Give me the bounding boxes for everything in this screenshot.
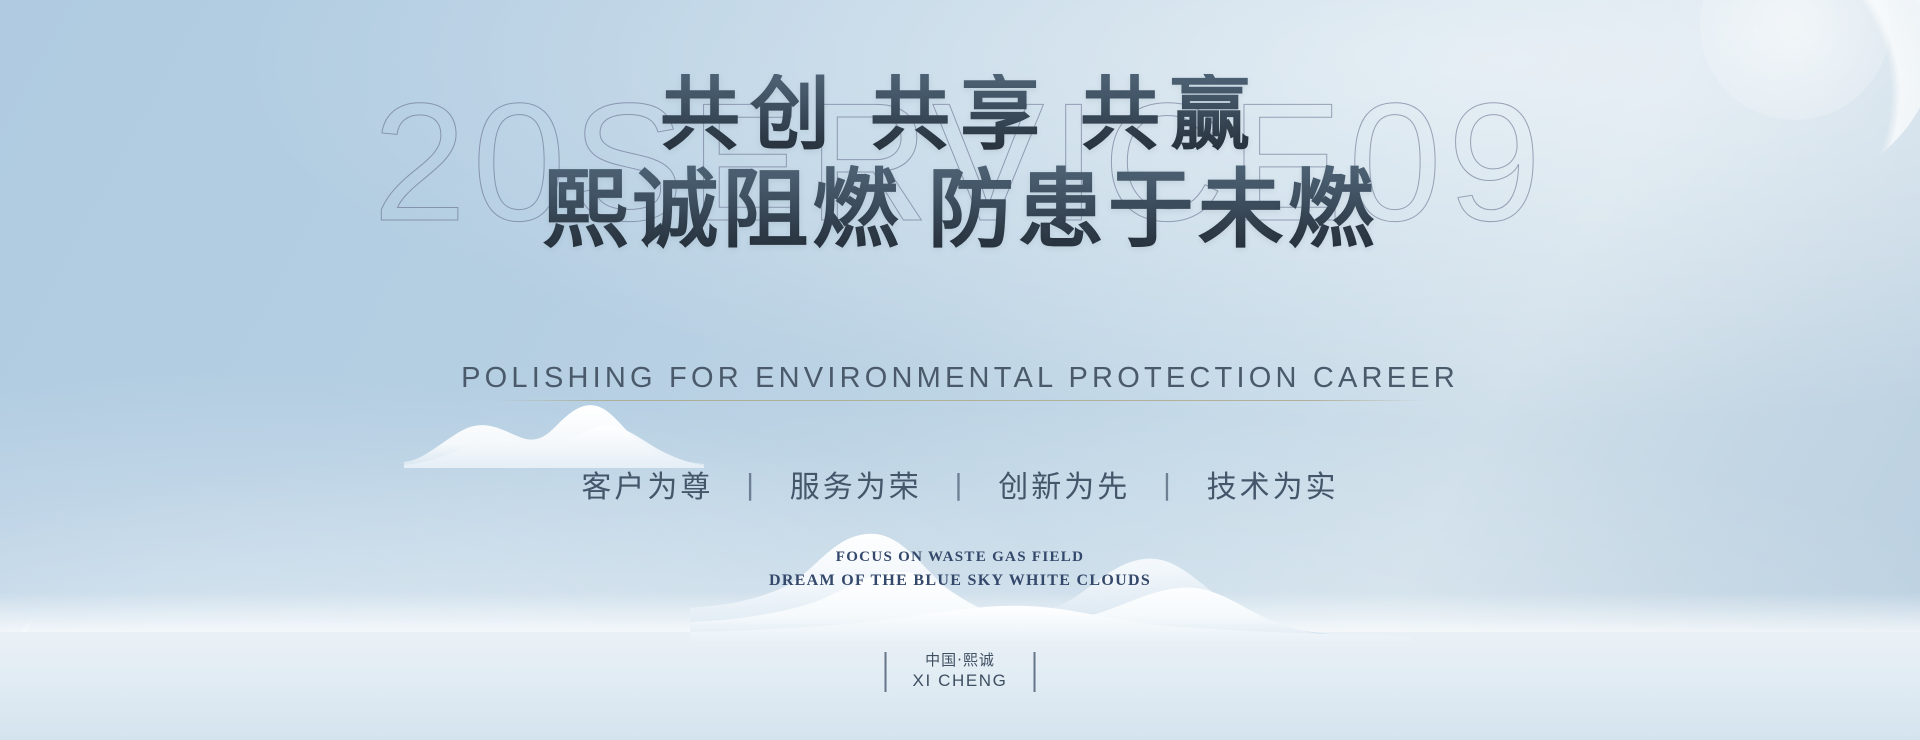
value-item-1: 客户为尊 <box>553 462 741 506</box>
logo-text: 中国·熙诚 XI CHENG <box>913 651 1008 692</box>
logo-text-cn: 中国·熙诚 <box>913 651 1008 670</box>
floor-glow <box>0 592 1920 632</box>
headline-line-2: 熙诚阻燃 防患于未燃 <box>0 165 1920 256</box>
value-separator-1: | <box>741 468 761 501</box>
subtitle-en: POLISHING FOR ENVIRONMENTAL PROTECTION C… <box>0 362 1920 395</box>
headline-block: 共创 共享 共赢 熙诚阻燃 防患于未燃 <box>0 74 1920 256</box>
value-separator-3: | <box>1158 468 1178 501</box>
value-separator-2: | <box>950 468 970 501</box>
logo-divider-right <box>1033 652 1035 692</box>
logo-lockup: 中国·熙诚 XI CHENG <box>885 651 1036 692</box>
value-item-4: 技术为实 <box>1179 462 1367 506</box>
headline-line-1: 共创 共享 共赢 <box>0 74 1920 159</box>
logo-divider-left <box>885 652 887 692</box>
banner-stage: 20SERVICE09 共创 共享 共赢 熙诚阻燃 防患于未燃 POLISHIN… <box>0 0 1920 740</box>
value-item-2: 服务为荣 <box>762 462 950 506</box>
subtitle-underline <box>495 400 1425 401</box>
logo-text-en: XI CHENG <box>913 670 1008 692</box>
value-item-3: 创新为先 <box>970 462 1158 506</box>
focus-line-2: DREAM OF THE BLUE SKY WHITE CLOUDS <box>0 569 1920 593</box>
cloud-shape-left <box>404 398 704 468</box>
focus-block: FOCUS ON WASTE GAS FIELD DREAM OF THE BL… <box>0 546 1920 593</box>
values-row: 客户为尊 | 服务为荣 | 创新为先 | 技术为实 <box>0 462 1920 506</box>
focus-line-1: FOCUS ON WASTE GAS FIELD <box>0 546 1920 569</box>
